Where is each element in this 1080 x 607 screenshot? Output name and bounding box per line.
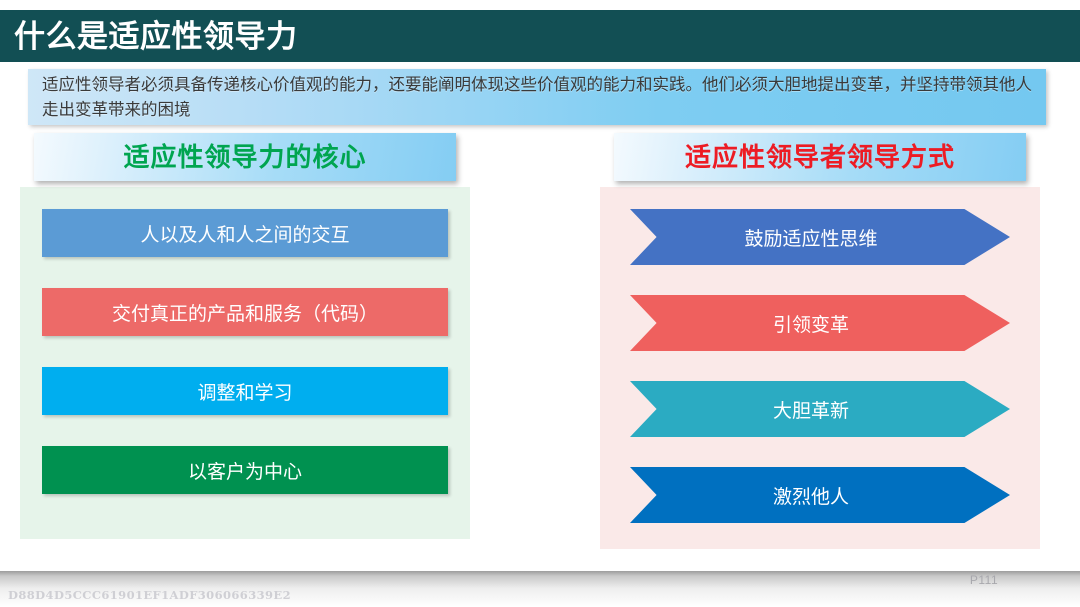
panel-adaptive-leader-styles: 适应性领导者领导方式 鼓励适应性思维 引领变革 大胆革新 激烈他人 [600,133,1040,549]
list-item[interactable]: 大胆革新 [622,381,1018,437]
list-item-label: 引领变革 [773,310,849,337]
right-panel-header: 适应性领导者领导方式 [614,133,1026,181]
left-panel-header-label: 适应性领导力的核心 [123,144,366,170]
chevron-arrow-icon: 引领变革 [630,295,1010,351]
list-item-label: 激烈他人 [773,482,849,509]
list-item[interactable]: 人以及人和人之间的交互 [42,209,448,257]
subtitle-text: 适应性领导者必须具备传递核心价值观的能力，还要能阐明体现这些价值观的能力和实践。… [28,72,1046,122]
list-item[interactable]: 调整和学习 [42,367,448,415]
page-title: 什么是适应性领导力 [0,21,298,52]
list-item[interactable]: 引领变革 [622,295,1018,351]
list-item-label: 人以及人和人之间的交互 [140,220,349,247]
page-number-label: P111 [970,573,998,587]
chevron-arrow-icon: 大胆革新 [630,381,1010,437]
left-panel-header: 适应性领导力的核心 [34,133,456,181]
list-item[interactable]: 激烈他人 [622,467,1018,523]
panel-core-of-adaptive-leadership: 适应性领导力的核心 人以及人和人之间的交互 交付真正的产品和服务（代码） 调整和… [20,133,470,539]
list-item[interactable]: 交付真正的产品和服务（代码） [42,288,448,336]
list-item[interactable]: 鼓励适应性思维 [622,209,1018,265]
list-item-label: 大胆革新 [773,396,849,423]
list-item-label: 交付真正的产品和服务（代码） [112,299,378,326]
right-panel-body: 鼓励适应性思维 引领变革 大胆革新 激烈他人 [600,187,1040,549]
watermark-hash: D88D4D5CCC61901EF1ADF306066339E2 [8,588,291,602]
list-item-label: 鼓励适应性思维 [744,224,877,251]
slide-title-bar: 什么是适应性领导力 [0,10,1080,62]
list-item-label: 以客户为中心 [188,457,302,484]
right-panel-header-label: 适应性领导者领导方式 [685,144,955,170]
slide-content: 适应性领导力的核心 人以及人和人之间的交互 交付真正的产品和服务（代码） 调整和… [0,133,1080,568]
list-item[interactable]: 以客户为中心 [42,446,448,494]
left-panel-body: 人以及人和人之间的交互 交付真正的产品和服务（代码） 调整和学习 以客户为中心 [20,187,470,539]
chevron-arrow-icon: 鼓励适应性思维 [630,209,1010,265]
chevron-arrow-icon: 激烈他人 [630,467,1010,523]
page-number: P111 [0,573,1080,587]
list-item-label: 调整和学习 [197,378,292,405]
subtitle-banner: 适应性领导者必须具备传递核心价值观的能力，还要能阐明体现这些价值观的能力和实践。… [28,69,1046,125]
